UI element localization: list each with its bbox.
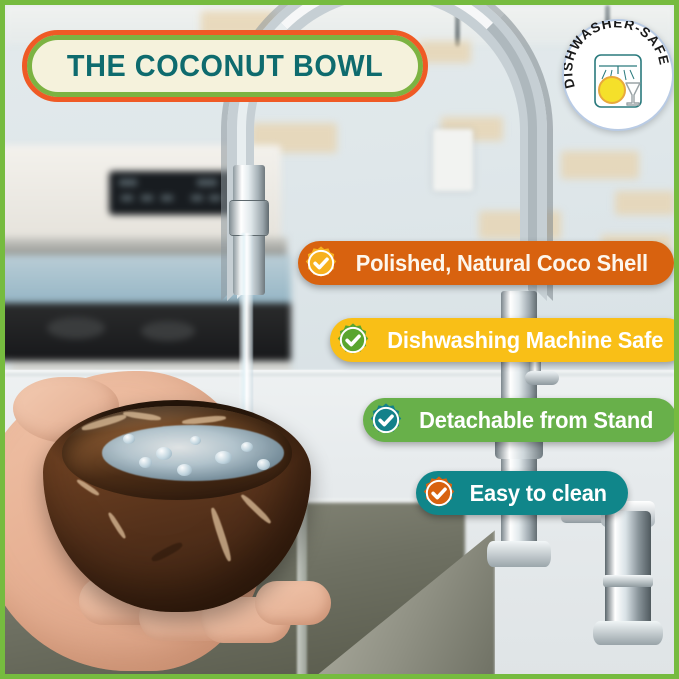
feature-label: Detachable from Stand xyxy=(419,407,653,434)
finger xyxy=(255,581,331,625)
faucet-aerator xyxy=(229,201,269,235)
feature-pill-easy-to-clean[interactable]: Easy to clean xyxy=(416,471,628,515)
feature-pill-polished[interactable]: Polished, Natural Coco Shell xyxy=(298,241,674,285)
check-badge-icon xyxy=(335,322,371,358)
check-badge-icon xyxy=(421,475,457,511)
soap-dispenser-ring xyxy=(603,575,653,587)
soap-dispenser-body xyxy=(605,511,651,631)
feature-label: Dishwashing Machine Safe xyxy=(387,327,663,354)
dishwasher-safe-badge: DISHWASHER-SAFE xyxy=(562,19,674,131)
check-badge-icon xyxy=(368,402,404,438)
title-banner: THE COCONUT BOWL xyxy=(27,35,423,97)
check-badge-icon xyxy=(303,245,339,281)
feature-pill-detachable[interactable]: Detachable from Stand xyxy=(363,398,677,442)
feature-label: Polished, Natural Coco Shell xyxy=(356,250,648,277)
feature-label: Easy to clean xyxy=(470,480,607,507)
feature-pill-dishwashing[interactable]: Dishwashing Machine Safe xyxy=(330,318,679,362)
dishwasher-icon: DISHWASHER-SAFE xyxy=(564,21,672,129)
product-infographic: THE COCONUT BOWL DISHWASHER-SAFE xyxy=(0,0,679,679)
backsplash-tile xyxy=(615,191,674,215)
faucet-handle xyxy=(525,371,559,385)
page-title: THE COCONUT BOWL xyxy=(67,48,383,84)
faucet-base xyxy=(487,541,551,567)
backsplash-tile xyxy=(561,151,639,179)
soap-dispenser-base xyxy=(593,621,663,645)
